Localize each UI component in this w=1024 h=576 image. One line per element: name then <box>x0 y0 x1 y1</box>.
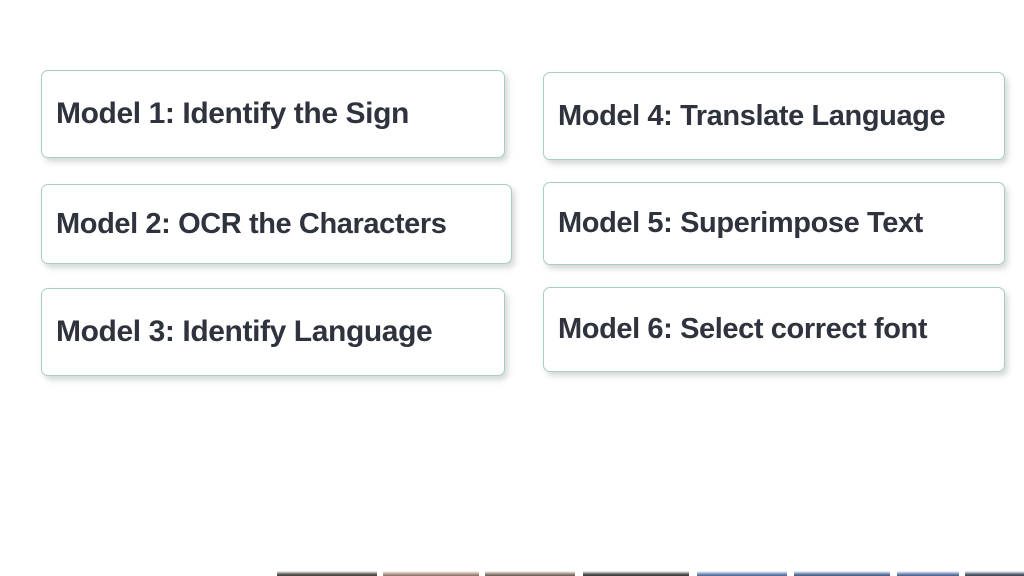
filmstrip-segment <box>794 571 890 576</box>
filmstrip-segment <box>277 571 377 576</box>
model-box-6[interactable]: Model 6: Select correct font <box>543 287 1005 372</box>
filmstrip-segment <box>383 571 479 576</box>
filmstrip-segment <box>583 571 689 576</box>
filmstrip-gap <box>787 571 794 576</box>
filmstrip-gap <box>575 571 583 576</box>
model-box-4[interactable]: Model 4: Translate Language <box>543 72 1005 160</box>
model-box-3[interactable]: Model 3: Identify Language <box>41 288 505 376</box>
filmstrip-gap <box>479 571 485 576</box>
bottom-filmstrip-sliver <box>0 570 1024 576</box>
model-box-1[interactable]: Model 1: Identify the Sign <box>41 70 505 158</box>
model-box-2-label: Model 2: OCR the Characters <box>56 210 446 239</box>
filmstrip-segment <box>897 571 959 576</box>
model-box-2[interactable]: Model 2: OCR the Characters <box>41 184 512 264</box>
model-box-grid: Model 1: Identify the Sign Model 2: OCR … <box>41 70 1005 376</box>
filmstrip-gap <box>689 571 697 576</box>
model-box-4-label: Model 4: Translate Language <box>558 102 945 131</box>
model-box-1-label: Model 1: Identify the Sign <box>56 99 409 129</box>
filmstrip-segment <box>485 571 575 576</box>
model-box-6-label: Model 6: Select correct font <box>558 315 927 344</box>
filmstrip-segment <box>965 571 1024 576</box>
slide-canvas: Model 1: Identify the Sign Model 2: OCR … <box>0 0 1024 576</box>
model-box-5[interactable]: Model 5: Superimpose Text <box>543 182 1005 265</box>
filmstrip-gap <box>890 571 897 576</box>
model-box-3-label: Model 3: Identify Language <box>56 317 432 347</box>
filmstrip-segment <box>697 571 787 576</box>
filmstrip-gap <box>377 571 383 576</box>
model-box-5-label: Model 5: Superimpose Text <box>558 209 923 238</box>
filmstrip-gap <box>959 571 965 576</box>
